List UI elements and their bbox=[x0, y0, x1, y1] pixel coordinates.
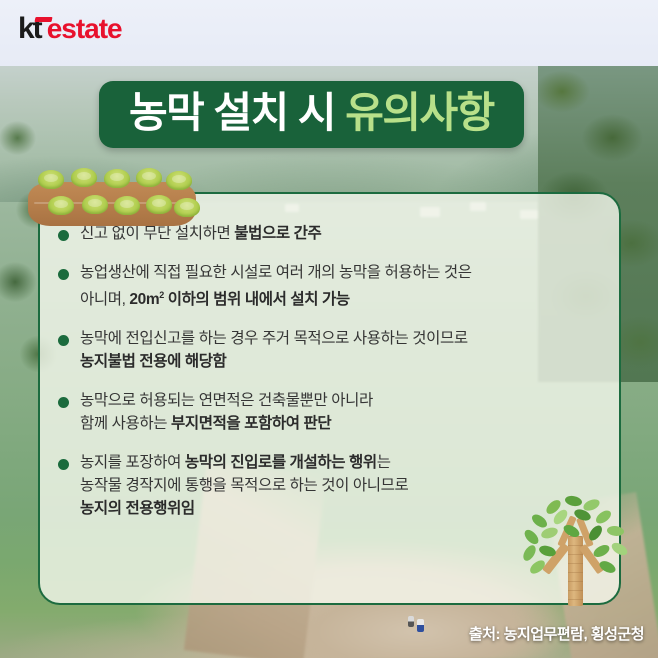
tree-leaf bbox=[598, 558, 618, 576]
notice-line: 농막으로 허용되는 연면적은 건축물뿐만 아니라 bbox=[80, 389, 606, 412]
notice-text-emphasis: 농지불법 전용에 해당함 bbox=[80, 353, 226, 370]
bullet-dot-icon bbox=[58, 335, 69, 346]
notice-text: 농업생산에 직접 필요한 시설로 여러 개의 농막을 허용하는 것은 bbox=[80, 264, 472, 281]
bullet-dot-icon bbox=[58, 230, 69, 241]
notice-line: 함께 사용하는 부지면적을 포함하여 판단 bbox=[80, 412, 606, 435]
cabbage-icon bbox=[146, 195, 172, 214]
notice-item: 농막에 전입신고를 하는 경우 주거 목적으로 사용하는 것이므로농지불법 전용… bbox=[58, 327, 606, 373]
cabbage-icon bbox=[71, 168, 97, 187]
tree-leaf bbox=[592, 543, 611, 558]
cabbage-icon bbox=[104, 169, 130, 188]
header-strip: kt estate bbox=[0, 0, 658, 66]
page-title: 농막 설치 시 유의사항 bbox=[129, 92, 494, 134]
notice-line: 농지의 전용행위임 bbox=[80, 497, 606, 520]
tree-leaf bbox=[606, 524, 625, 538]
cabbage-icon bbox=[136, 168, 162, 187]
notice-text: 농지를 포장하여 bbox=[80, 454, 185, 471]
notice-line: 농지불법 전용에 해당함 bbox=[80, 350, 606, 373]
bullet-dot-icon bbox=[58, 459, 69, 470]
tree-leaf bbox=[520, 543, 539, 562]
tree-leaf bbox=[610, 540, 629, 559]
cabbage-icon bbox=[166, 171, 192, 190]
cabbage-icon bbox=[38, 170, 64, 189]
notice-text-emphasis: 부지면적을 포함하여 판단 bbox=[171, 415, 331, 432]
title-banner: 농막 설치 시 유의사항 bbox=[99, 81, 524, 148]
notice-text-emphasis: 불법으로 간주 bbox=[234, 225, 321, 242]
notice-list: 신고 없이 무단 설치하면 불법으로 간주농업생산에 직접 필요한 시설로 여러… bbox=[58, 222, 606, 536]
notice-text: 농막에 전입신고를 하는 경우 주거 목적으로 사용하는 것이므로 bbox=[80, 330, 468, 347]
kt-estate-logo: kt estate bbox=[18, 12, 122, 46]
cabbage-icon bbox=[48, 196, 74, 215]
cabbage-field-illustration bbox=[28, 168, 196, 230]
title-part-accent: 유의사항 bbox=[345, 89, 494, 136]
notice-line: 농업생산에 직접 필요한 시설로 여러 개의 농막을 허용하는 것은 bbox=[80, 261, 606, 284]
infographic-canvas: kt estate 농막 설치 시 유의사항 bbox=[0, 0, 658, 658]
cabbage-icon bbox=[114, 196, 140, 215]
notice-item: 농막으로 허용되는 연면적은 건축물뿐만 아니라함께 사용하는 부지면적을 포함… bbox=[58, 389, 606, 435]
bullet-dot-icon bbox=[58, 269, 69, 280]
notice-text: 아니며, bbox=[80, 291, 129, 308]
person-1 bbox=[417, 619, 424, 632]
source-credit: 출처: 농지업무편람, 횡성군청 bbox=[469, 623, 644, 644]
logo-estate-text: estate bbox=[47, 13, 122, 45]
bullet-dot-icon bbox=[58, 397, 69, 408]
notice-text-emphasis: 농막의 진입로를 개설하는 행위 bbox=[185, 454, 377, 471]
cabbage-icon bbox=[174, 198, 200, 217]
notice-text: 농작물 경작지에 통행을 목적으로 하는 것이 아니므로 bbox=[80, 477, 408, 494]
notice-line: 농막에 전입신고를 하는 경우 주거 목적으로 사용하는 것이므로 bbox=[80, 327, 606, 350]
title-part-primary: 농막 설치 시 bbox=[129, 89, 335, 136]
notice-text: 농막으로 허용되는 연면적은 건축물뿐만 아니라 bbox=[80, 392, 373, 409]
notice-line: 아니며, 20m2 이하의 범위 내에서 설치 가능 bbox=[80, 284, 606, 311]
notice-line: 농작물 경작지에 통행을 목적으로 하는 것이 아니므로 bbox=[80, 474, 606, 497]
notice-line: 농지를 포장하여 농막의 진입로를 개설하는 행위는 bbox=[80, 451, 606, 474]
notice-text: 함께 사용하는 bbox=[80, 415, 171, 432]
notice-text-emphasis: 농지의 전용행위임 bbox=[80, 500, 195, 517]
person-2 bbox=[408, 616, 414, 627]
logo-kt-text: kt bbox=[18, 12, 41, 46]
notice-text: 는 bbox=[377, 454, 391, 471]
notice-item: 농지를 포장하여 농막의 진입로를 개설하는 행위는농작물 경작지에 통행을 목… bbox=[58, 451, 606, 520]
cabbage-icon bbox=[82, 195, 108, 214]
notice-text-emphasis: 20m2 이하의 범위 내에서 설치 가능 bbox=[129, 291, 349, 308]
superscript-two: 2 bbox=[159, 290, 164, 300]
notice-item: 농업생산에 직접 필요한 시설로 여러 개의 농막을 허용하는 것은아니며, 2… bbox=[58, 261, 606, 311]
